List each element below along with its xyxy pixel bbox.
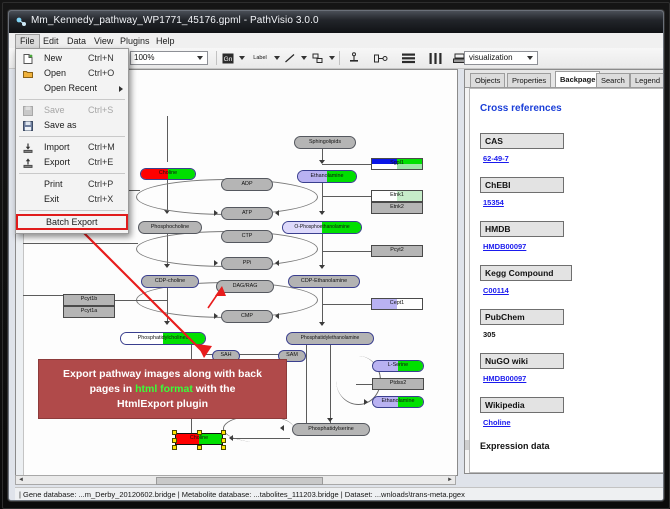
menu-item-export[interactable]: Export Ctrl+E xyxy=(16,155,128,170)
save-as-icon xyxy=(23,121,33,131)
line-tool-chevron-down-icon[interactable] xyxy=(301,56,307,60)
annotation-callout: Export pathway images along with back pa… xyxy=(38,359,287,419)
menu-plugins[interactable]: Plugins xyxy=(116,34,154,48)
menu-item-batch-export[interactable]: Batch Export xyxy=(16,214,128,230)
folder-icon xyxy=(23,69,33,79)
callout-line-2b: with the xyxy=(193,383,236,395)
menu-edit[interactable]: Edit xyxy=(39,34,63,48)
menu-item-accel: Ctrl+N xyxy=(88,51,114,66)
shape-tool-icon[interactable] xyxy=(311,51,325,65)
xref-value-wikipedia[interactable]: Choline xyxy=(483,418,511,427)
menu-item-accel: Ctrl+O xyxy=(88,66,114,81)
chevron-down-icon[interactable] xyxy=(197,56,203,60)
menu-item-label: Save xyxy=(44,103,65,118)
menu-item-label: Import xyxy=(44,140,70,155)
xref-value-kegg[interactable]: C00114 xyxy=(483,286,509,295)
pathvisio-icon xyxy=(15,16,27,28)
xref-label-cas: CAS xyxy=(480,133,564,149)
menu-item-label: Open xyxy=(44,66,66,81)
cross-references-title: Cross references xyxy=(480,103,562,114)
xref-value-pubchem: 305 xyxy=(483,330,496,339)
toolbar-divider xyxy=(216,51,217,65)
line-tool-icon[interactable] xyxy=(283,51,297,65)
menu-divider-4 xyxy=(19,210,125,211)
backpage-content[interactable]: Cross references CAS 62-49-7 ChEBI 15354… xyxy=(469,88,664,473)
menu-data[interactable]: Data xyxy=(63,34,90,48)
status-bar-text: | Gene database: ...m_Derby_20120602.bri… xyxy=(19,490,465,499)
callout-highlight: html format xyxy=(135,383,193,395)
menu-item-open-recent[interactable]: Open Recent xyxy=(16,81,128,96)
scroll-left-icon[interactable]: ◄ xyxy=(18,478,24,483)
menu-item-accel: Ctrl+X xyxy=(88,192,113,207)
menu-item-open[interactable]: Open Ctrl+O xyxy=(16,66,128,81)
menu-help[interactable]: Help xyxy=(152,34,179,48)
gene-tool-chevron-down-icon[interactable] xyxy=(239,56,245,60)
menu-item-label: Export xyxy=(44,155,70,170)
menu-item-label: New xyxy=(44,51,62,66)
callout-line-2: pages in html format with the xyxy=(90,382,236,397)
xref-value-hmdb[interactable]: HMDB00097 xyxy=(483,242,526,251)
state-tool-icon[interactable] xyxy=(373,51,389,65)
gene-product-tool-icon[interactable]: Gn xyxy=(221,51,235,65)
hscroll-thumb[interactable] xyxy=(156,477,323,485)
menu-item-accel: Ctrl+E xyxy=(88,155,113,170)
save-icon xyxy=(23,106,33,116)
menu-item-print[interactable]: Print Ctrl+P xyxy=(16,177,128,192)
shape-tool-chevron-down-icon[interactable] xyxy=(329,56,335,60)
label-tool-icon[interactable]: Label xyxy=(249,51,271,65)
xref-value-cas[interactable]: 62-49-7 xyxy=(483,154,509,163)
label-tool-chevron-down-icon[interactable] xyxy=(274,56,280,60)
import-icon xyxy=(23,143,33,153)
menu-view[interactable]: View xyxy=(90,34,117,48)
menu-divider-3 xyxy=(19,173,125,174)
window-title: Mm_Kennedy_pathway_WP1771_45176.gpml - P… xyxy=(31,15,319,26)
screenshot-root: Mm_Kennedy_pathway_WP1771_45176.gpml - P… xyxy=(0,0,670,509)
menu-item-accel: Ctrl+P xyxy=(88,177,113,192)
xref-label-pubchem: PubChem xyxy=(480,309,564,325)
menu-bar: File Edit Data View Plugins Help xyxy=(9,33,663,49)
xref-value-nugo[interactable]: HMDB00097 xyxy=(483,374,526,383)
callout-line-2a: pages in xyxy=(90,383,136,395)
export-icon xyxy=(23,158,33,168)
side-panel-scrollbar[interactable] xyxy=(465,440,469,450)
status-bar: | Gene database: ...m_Derby_20120602.bri… xyxy=(15,487,664,501)
distribute-tool-icon[interactable] xyxy=(427,51,443,65)
menu-divider xyxy=(19,99,125,100)
xref-label-kegg: Kegg Compound xyxy=(480,265,572,281)
pathvisio-window: Mm_Kennedy_pathway_WP1771_45176.gpml - P… xyxy=(8,10,664,501)
toolbar-divider-2 xyxy=(339,51,340,65)
tab-search[interactable]: Search xyxy=(596,73,630,87)
xref-label-nugo: NuGO wiki xyxy=(480,353,564,369)
expression-data-title: Expression data xyxy=(480,441,550,451)
tab-properties[interactable]: Properties xyxy=(507,73,551,87)
side-panel: Objects Properties Backpage Search Legen… xyxy=(464,69,664,474)
svg-text:Gn: Gn xyxy=(224,56,233,63)
align-tool-icon[interactable] xyxy=(400,51,416,65)
chevron-right-icon xyxy=(119,86,123,92)
file-menu-dropdown[interactable]: New Ctrl+N Open Ctrl+O Open Recent Save … xyxy=(15,48,129,234)
menu-item-label: Exit xyxy=(44,192,59,207)
menu-item-accel: Ctrl+M xyxy=(88,140,115,155)
menu-item-new[interactable]: New Ctrl+N xyxy=(16,51,128,66)
callout-line-3: HtmlExport plugin xyxy=(117,397,208,412)
menu-item-label: Save as xyxy=(44,118,77,133)
menu-item-accel: Ctrl+S xyxy=(88,103,113,118)
menu-divider-2 xyxy=(19,136,125,137)
menu-item-label: Batch Export xyxy=(46,216,98,229)
tab-legend[interactable]: Legend xyxy=(630,73,664,87)
callout-line-1: Export pathway images along with back xyxy=(63,367,262,382)
menu-item-label: Print xyxy=(44,177,63,192)
menu-item-label: Open Recent xyxy=(44,81,97,96)
menu-item-save[interactable]: Save Ctrl+S xyxy=(16,103,128,118)
title-bar: Mm_Kennedy_pathway_WP1771_45176.gpml - P… xyxy=(9,11,663,34)
xref-label-chebi: ChEBI xyxy=(480,177,564,193)
menu-file[interactable]: File xyxy=(15,34,40,48)
menu-item-exit[interactable]: Exit Ctrl+X xyxy=(16,192,128,207)
xref-label-wikipedia: Wikipedia xyxy=(480,397,564,413)
anchor-tool-icon[interactable] xyxy=(347,51,361,65)
side-panel-tabs: Objects Properties Backpage Search Legen… xyxy=(465,70,664,88)
scroll-right-icon[interactable]: ► xyxy=(447,478,453,483)
visualization-chevron-down-icon[interactable] xyxy=(527,56,533,60)
xref-label-hmdb: HMDB xyxy=(480,221,564,237)
xref-value-chebi[interactable]: 15354 xyxy=(483,198,504,207)
tab-backpage[interactable]: Backpage xyxy=(555,71,600,87)
menu-item-import[interactable]: Import Ctrl+M xyxy=(16,140,128,155)
new-file-icon xyxy=(23,54,33,64)
canvas-hscrollbar[interactable]: ◄ ► xyxy=(15,475,456,485)
menu-item-save-as[interactable]: Save as xyxy=(16,118,128,133)
tab-objects[interactable]: Objects xyxy=(470,73,505,87)
